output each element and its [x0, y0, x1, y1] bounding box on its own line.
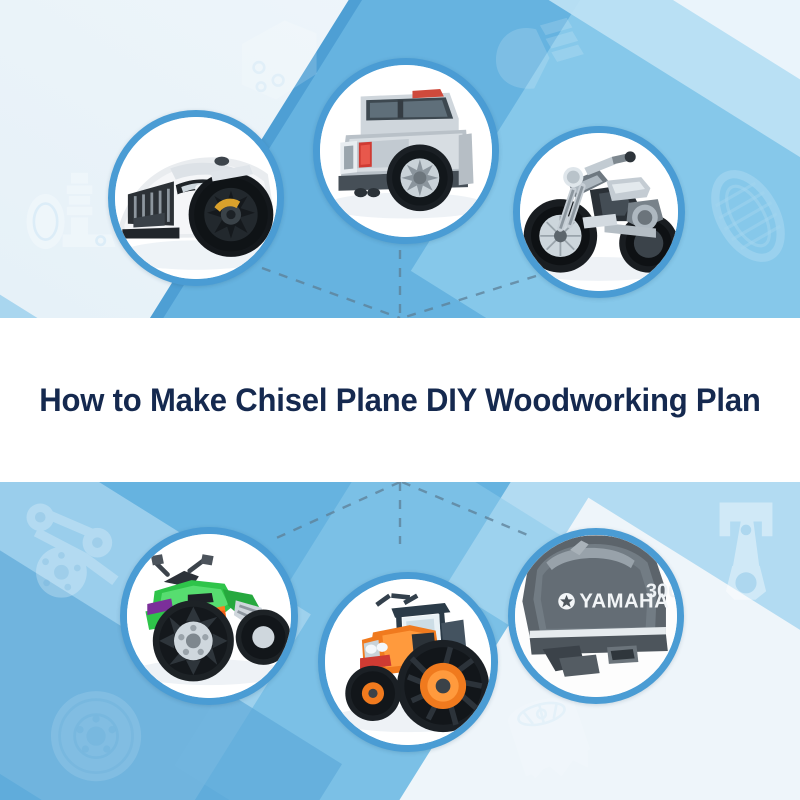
circle-image-tractor[interactable]	[318, 572, 498, 752]
circle-image-outboard-motor[interactable]: YAMAHA 300	[508, 528, 684, 704]
circle-image-sports-car[interactable]	[108, 110, 284, 286]
circle-image-pickup-truck[interactable]	[313, 58, 499, 244]
tire-icon	[700, 160, 796, 272]
serpentine-belt-icon	[16, 494, 128, 604]
top-image-panel	[0, 0, 800, 318]
motorcycle-illustration	[520, 133, 678, 291]
pickup-truck-illustration	[320, 65, 492, 237]
circle-image-motorcycle[interactable]	[513, 126, 685, 298]
sports-car-illustration	[115, 117, 277, 279]
page-title: How to Make Chisel Plane DIY Woodworking…	[17, 379, 783, 421]
headlight-icon	[490, 16, 586, 100]
outboard-motor-illustration: YAMAHA 300	[515, 535, 677, 697]
circle-image-atv[interactable]	[120, 527, 298, 705]
atv-illustration	[127, 534, 291, 698]
title-band: How to Make Chisel Plane DIY Woodworking…	[0, 318, 800, 482]
vehicle-banner: How to Make Chisel Plane DIY Woodworking…	[0, 0, 800, 800]
outboard-model-text: 300	[646, 581, 677, 603]
piston-icon	[700, 494, 792, 604]
bottom-image-panel: YAMAHA 300	[0, 482, 800, 800]
engine-block-icon	[222, 12, 330, 108]
tractor-illustration	[325, 579, 491, 745]
